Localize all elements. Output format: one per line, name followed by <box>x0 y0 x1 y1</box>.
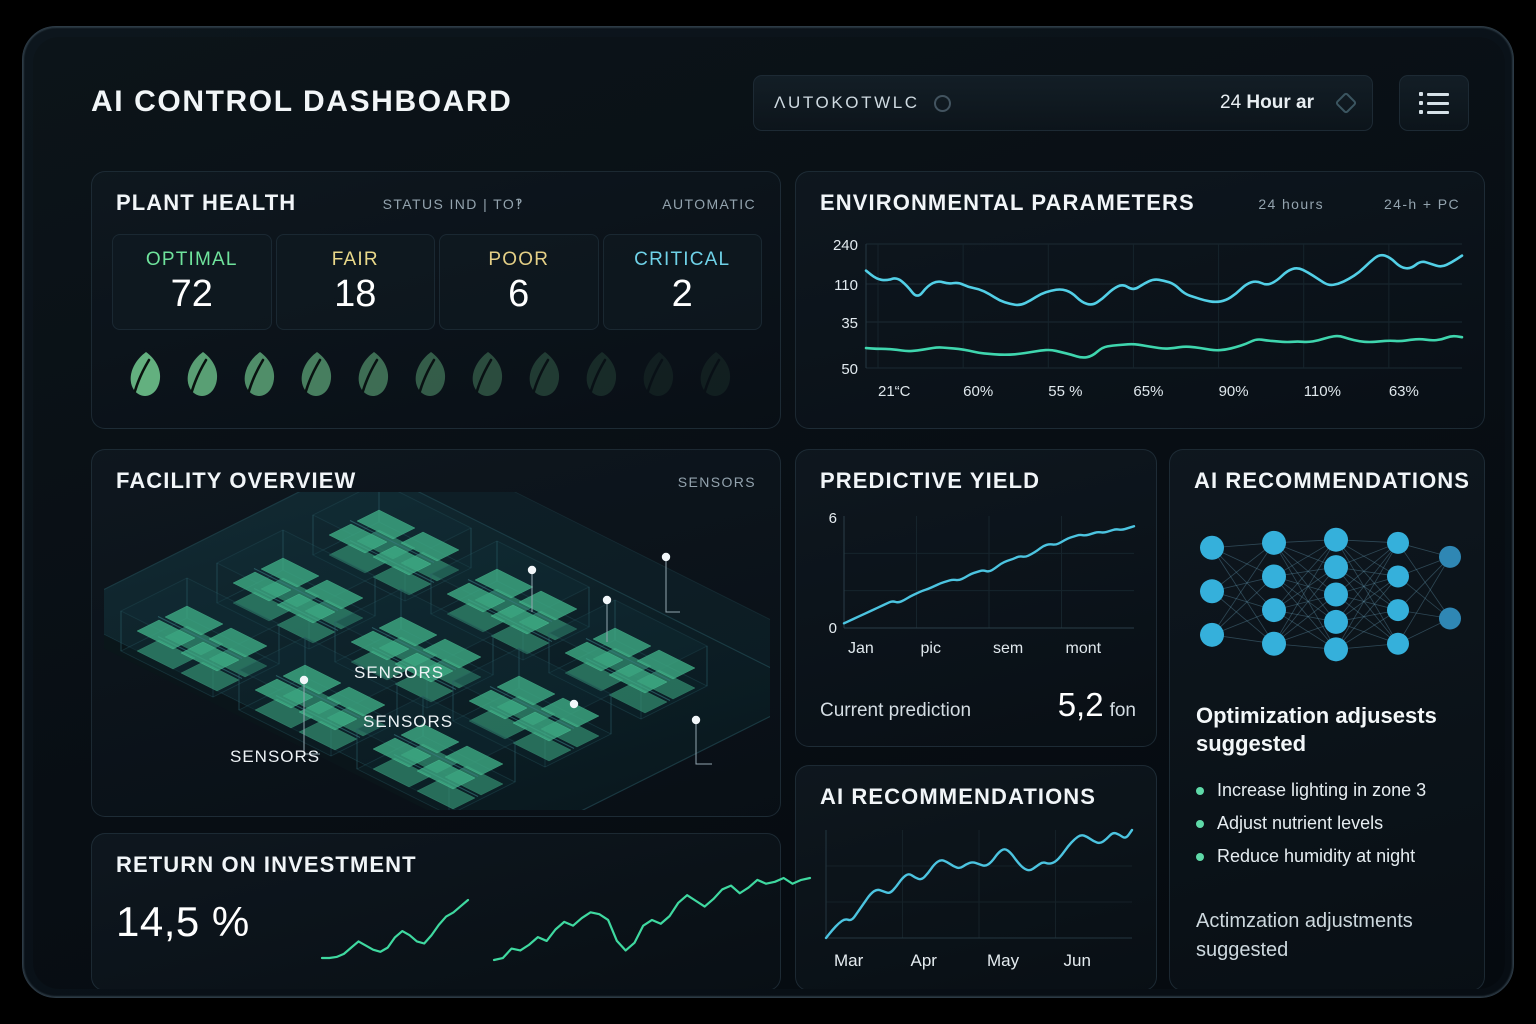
plant-health-card: PLANT HEALTH STATUS IND | TO‽ AUTOMATIC … <box>91 171 781 429</box>
svg-text:0: 0 <box>829 620 837 637</box>
svg-text:90%: 90% <box>1219 383 1249 400</box>
current-prediction-label: Current prediction <box>820 700 971 722</box>
svg-text:Jan: Jan <box>848 640 874 657</box>
svg-text:May: May <box>987 951 1020 970</box>
svg-text:6: 6 <box>829 510 837 527</box>
list-menu-icon <box>1419 92 1449 114</box>
leaf-indicator-row <box>122 348 762 400</box>
return-on-investment-card: RETURN ON INVESTMENT 14,5 % <box>91 833 781 989</box>
top-bar: AI CONTROL DASHBOARD ΛUTOKOTWLC 24 Hour … <box>79 75 1469 143</box>
leaf-icon <box>179 348 227 400</box>
device-bezel: AI CONTROL DASHBOARD ΛUTOKOTWLC 24 Hour … <box>22 26 1514 998</box>
leaf-icon <box>350 348 398 400</box>
leaf-icon <box>521 348 569 400</box>
current-prediction-value: 5,2 <box>1058 686 1104 723</box>
list-item-label: Reduce humidity at night <box>1217 846 1415 867</box>
bullet-icon <box>1196 820 1204 828</box>
facility-isometric-diagram[interactable] <box>104 492 770 810</box>
svg-text:60%: 60% <box>963 383 993 400</box>
ai-recommendations-chart-card: AI RECOMMENDATIONS MarAprMayJun <box>795 765 1157 989</box>
predictive-yield-card: PREDICTIVE YIELD 60Janpicsemmont Current… <box>795 449 1157 747</box>
time-range-group[interactable]: 24 Hour ar <box>1220 92 1372 114</box>
facility-title: FACILITY OVERVIEW <box>116 468 356 494</box>
recommendation-heading: Optimization adjusests suggested <box>1196 702 1468 758</box>
leaf-icon <box>293 348 341 400</box>
leaf-icon <box>122 348 170 400</box>
svg-text:110%: 110% <box>1304 383 1341 400</box>
plant-health-status-meta: STATUS IND | TO‽ <box>383 196 524 213</box>
environmental-title: ENVIRONMENTAL PARAMETERS <box>820 190 1195 216</box>
stat-label: OPTIMAL <box>146 249 238 271</box>
list-item-label: Increase lighting in zone 3 <box>1217 780 1426 801</box>
status-badge-poor[interactable]: POOR 6 <box>439 234 599 330</box>
diamond-icon[interactable] <box>1335 92 1358 115</box>
time-range-label: 24 Hour ar <box>1220 92 1314 114</box>
brand-label: ΛUTOKOTWLC <box>774 93 920 113</box>
svg-text:55 %: 55 % <box>1048 383 1082 400</box>
stat-label: CRITICAL <box>634 249 730 271</box>
svg-text:Jun: Jun <box>1064 951 1091 970</box>
leaf-icon <box>578 348 626 400</box>
stat-value: 6 <box>508 273 529 316</box>
environmental-chart: 240110355021“C60%55 %65%90%110%63% <box>816 230 1468 410</box>
list-item-label: Adjust nutrient levels <box>1217 813 1383 834</box>
list-item[interactable]: Reduce humidity at night <box>1196 846 1470 867</box>
svg-text:mont: mont <box>1066 640 1102 657</box>
status-badge-optimal[interactable]: OPTIMAL 72 <box>112 234 272 330</box>
plant-health-title: PLANT HEALTH <box>116 190 296 216</box>
svg-text:Mar: Mar <box>834 951 864 970</box>
circle-icon[interactable] <box>934 95 951 112</box>
roi-value: 14,5 % <box>116 898 250 946</box>
stat-value: 72 <box>171 273 213 316</box>
ai-recommendations-title: AI RECOMMENDATIONS <box>1194 468 1470 494</box>
neural-network-icon <box>1188 506 1468 686</box>
bullet-icon <box>1196 853 1204 861</box>
page-title: AI CONTROL DASHBOARD <box>91 85 512 119</box>
svg-text:sem: sem <box>993 640 1023 657</box>
roi-sparkline-large <box>492 872 812 966</box>
current-prediction-group: 5,2fon <box>1058 686 1136 724</box>
leaf-icon <box>407 348 455 400</box>
ai-recommendations-panel: AI RECOMMENDATIONS Optimization adjusest… <box>1169 449 1485 989</box>
environmental-parameters-card: ENVIRONMENTAL PARAMETERS 24 hours 24-h +… <box>795 171 1485 429</box>
predictive-yield-footer: Current prediction 5,2fon <box>820 686 1136 724</box>
stat-value: 2 <box>672 273 693 316</box>
leaf-icon <box>635 348 683 400</box>
svg-text:21“C: 21“C <box>878 383 911 400</box>
list-item[interactable]: Increase lighting in zone 3 <box>1196 780 1470 801</box>
dashboard-screen: AI CONTROL DASHBOARD ΛUTOKOTWLC 24 Hour … <box>33 37 1505 989</box>
time-range-prefix: 24 <box>1220 92 1241 113</box>
list-item[interactable]: Adjust nutrient levels <box>1196 813 1470 834</box>
predictive-yield-title: PREDICTIVE YIELD <box>820 468 1040 494</box>
facility-overview-card: FACILITY OVERVIEW SENSORS SENSORS SENSOR… <box>91 449 781 817</box>
svg-text:Apr: Apr <box>911 951 938 970</box>
stat-label: POOR <box>488 249 549 271</box>
plant-health-mode-meta: AUTOMATIC <box>662 196 756 212</box>
svg-text:110: 110 <box>834 277 858 294</box>
sensor-label-bottom-left: SENSORS <box>230 747 320 767</box>
stat-label: FAIR <box>332 249 379 271</box>
predictive-yield-chart: 60Janpicsemmont <box>818 504 1138 664</box>
svg-text:63%: 63% <box>1389 383 1419 400</box>
stat-value: 18 <box>334 273 376 316</box>
svg-text:240: 240 <box>833 237 858 254</box>
status-badge-fair[interactable]: FAIR 18 <box>276 234 436 330</box>
status-badge-critical[interactable]: CRITICAL 2 <box>603 234 763 330</box>
environmental-range-meta[interactable]: 24 hours <box>1258 196 1324 212</box>
sensor-label-top-right: SENSORS <box>354 663 444 683</box>
recommendation-list: Increase lighting in zone 3Adjust nutrie… <box>1196 780 1470 879</box>
roi-title: RETURN ON INVESTMENT <box>116 852 417 878</box>
ai-rec-chart-title: AI RECOMMENDATIONS <box>820 784 1096 810</box>
current-prediction-unit: fon <box>1110 700 1136 721</box>
menu-button[interactable] <box>1399 75 1469 131</box>
environmental-source-meta[interactable]: 24-h + PC <box>1384 196 1460 212</box>
time-range-suffix: Hour ar <box>1246 92 1314 113</box>
sensor-label-bottom-right: SENSORS <box>363 712 453 732</box>
svg-text:pic: pic <box>921 640 941 657</box>
recommendation-footer: Actimzation adjustments suggested <box>1196 907 1472 964</box>
svg-text:35: 35 <box>841 315 858 332</box>
leaf-icon <box>464 348 512 400</box>
plant-health-stats: OPTIMAL 72 FAIR 18 POOR 6 CRITICAL 2 <box>112 234 762 330</box>
bullet-icon <box>1196 787 1204 795</box>
leaf-icon <box>236 348 284 400</box>
ai-rec-trend-chart: MarAprMayJun <box>818 818 1138 978</box>
header-control-pill[interactable]: ΛUTOKOTWLC 24 Hour ar <box>753 75 1373 131</box>
svg-text:65%: 65% <box>1133 383 1163 400</box>
leaf-icon <box>692 348 740 400</box>
svg-text:50: 50 <box>841 361 858 378</box>
facility-sensors-meta: SENSORS <box>678 474 756 490</box>
roi-sparkline-small <box>320 894 470 964</box>
